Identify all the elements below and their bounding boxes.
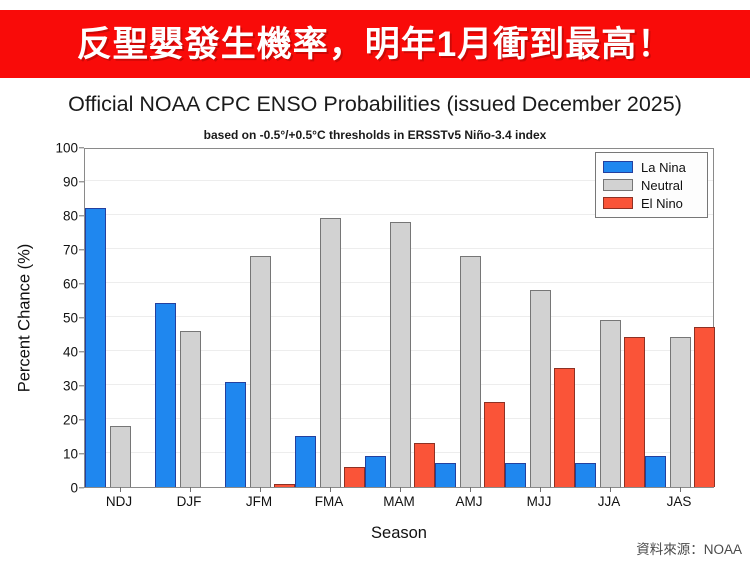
y-tick-mark <box>79 317 84 318</box>
y-tick-label: 90 <box>32 175 78 190</box>
bar-group <box>225 149 295 487</box>
legend-swatch <box>603 161 633 173</box>
bar <box>390 222 411 487</box>
bar-group <box>85 149 155 487</box>
legend-item[interactable]: Neutral <box>603 176 700 194</box>
y-tick-label: 80 <box>32 209 78 224</box>
bar-group <box>365 149 435 487</box>
bar <box>575 463 596 487</box>
x-tick-label: NDJ <box>106 494 132 509</box>
x-tick-mark <box>470 487 471 492</box>
y-tick-mark <box>79 249 84 250</box>
y-tick-label: 30 <box>32 379 78 394</box>
bar <box>225 382 246 487</box>
x-tick-label: AMJ <box>456 494 483 509</box>
y-tick-label: 60 <box>32 277 78 292</box>
y-tick-label: 70 <box>32 243 78 258</box>
x-tick-mark <box>260 487 261 492</box>
x-tick-label: MJJ <box>527 494 552 509</box>
bar <box>320 218 341 487</box>
y-tick-label: 100 <box>32 141 78 156</box>
bar <box>250 256 271 487</box>
x-axis-label: Season <box>84 524 714 543</box>
chart-title: Official NOAA CPC ENSO Probabilities (is… <box>0 92 750 117</box>
y-tick-mark <box>79 351 84 352</box>
bar <box>530 290 551 487</box>
bar-group <box>435 149 505 487</box>
bar <box>694 327 715 487</box>
x-tick-mark <box>610 487 611 492</box>
bar <box>484 402 505 487</box>
y-tick-mark <box>79 419 84 420</box>
bar <box>600 320 621 487</box>
bar <box>670 337 691 487</box>
legend-label: La Nina <box>641 160 686 175</box>
headline-text: 反聖嬰發生機率，明年1月衝到最高！ <box>77 27 673 62</box>
x-tick-label: MAM <box>383 494 415 509</box>
headline-banner: 反聖嬰發生機率，明年1月衝到最高！ <box>0 10 750 78</box>
x-tick-label: JJA <box>598 494 621 509</box>
y-tick-mark <box>79 385 84 386</box>
legend-item[interactable]: La Nina <box>603 158 700 176</box>
bar <box>110 426 131 487</box>
bar-group <box>155 149 225 487</box>
x-tick-label: JFM <box>246 494 272 509</box>
y-tick-label: 10 <box>32 447 78 462</box>
legend-swatch <box>603 179 633 191</box>
x-tick-mark <box>330 487 331 492</box>
y-tick-mark <box>79 147 84 148</box>
y-tick-mark <box>79 215 84 216</box>
x-tick-label: FMA <box>315 494 344 509</box>
x-tick-label: JAS <box>667 494 692 509</box>
bar <box>344 467 365 487</box>
y-tick-mark <box>79 283 84 284</box>
bar <box>460 256 481 487</box>
x-tick-mark <box>190 487 191 492</box>
y-tick-mark <box>79 487 84 488</box>
bar <box>554 368 575 487</box>
chart-subtitle: based on -0.5°/+0.5°C thresholds in ERSS… <box>0 128 750 142</box>
x-tick-mark <box>400 487 401 492</box>
bar-group <box>505 149 575 487</box>
x-tick-mark <box>120 487 121 492</box>
chart-legend: La NinaNeutralEl Nino <box>595 152 708 218</box>
y-tick-mark <box>79 181 84 182</box>
bar <box>365 456 386 487</box>
bar <box>85 208 106 487</box>
bar <box>435 463 456 487</box>
chart-page: 反聖嬰發生機率，明年1月衝到最高！ Official NOAA CPC ENSO… <box>0 0 750 563</box>
y-tick-label: 40 <box>32 345 78 360</box>
legend-swatch <box>603 197 633 209</box>
bar <box>155 303 176 487</box>
source-credit: 資料來源：NOAA <box>636 538 742 558</box>
x-tick-mark <box>540 487 541 492</box>
bar <box>505 463 526 487</box>
bar <box>274 484 295 487</box>
bar <box>180 331 201 487</box>
x-tick-label: DJF <box>177 494 202 509</box>
bar-group <box>295 149 365 487</box>
bar <box>414 443 435 487</box>
legend-item[interactable]: El Nino <box>603 194 700 212</box>
x-tick-mark <box>680 487 681 492</box>
legend-label: El Nino <box>641 196 683 211</box>
bar <box>624 337 645 487</box>
y-tick-label: 0 <box>32 481 78 496</box>
y-tick-label: 50 <box>32 311 78 326</box>
bar <box>645 456 666 487</box>
bar <box>295 436 316 487</box>
y-tick-label: 20 <box>32 413 78 428</box>
legend-label: Neutral <box>641 178 683 193</box>
y-tick-mark <box>79 453 84 454</box>
